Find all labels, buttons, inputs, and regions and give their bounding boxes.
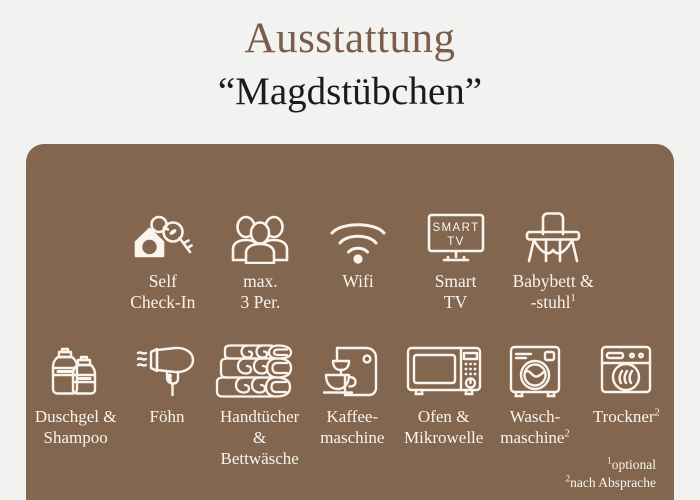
hairdryer-icon [135,340,199,398]
footnotes: 1optional 2nach Absprache [565,456,656,492]
amenity-label: Ofen & Mikrowelle [404,406,483,448]
amenities-row-1: Self Check-In [26,202,674,313]
amenity-label: Duschgel & Shampoo [35,406,117,448]
towel-stack-icon [214,340,306,398]
amenity-coffee-machine: Kaffee- maschine [308,340,397,448]
amenity-label: Smart TV [435,271,477,313]
amenity-oven-microwave: Ofen & Mikrowelle [399,340,488,448]
house-keys-icon [132,202,194,264]
amenity-tumble-dryer: Trockner2 [582,340,671,427]
page-header: Ausstattung “Magdstübchen” [0,0,700,116]
amenity-label: Babybett & -stuhl1 [513,271,594,313]
amenity-label: Wasch- maschine2 [500,406,569,448]
page-subtitle: “Magdstübchen” [0,64,700,116]
footnote-marker: 2 [564,428,569,439]
amenities-card: Self Check-In [26,144,674,500]
microwave-oven-icon [405,340,483,398]
amenity-label: max. 3 Per. [240,271,280,313]
amenity-self-checkin: Self Check-In [122,202,204,313]
amenity-wifi: Wifi [317,202,399,292]
footnote-2: 2nach Absprache [565,474,656,492]
smart-tv-icon: SMART TV [426,202,486,264]
page-title: Ausstattung [0,14,700,64]
smart-tv-screen-line2: TV [447,236,465,248]
wifi-icon [327,202,389,264]
washing-machine-icon [507,340,563,398]
amenity-washing-machine: Wasch- maschine2 [490,340,579,448]
amenity-label: Wifi [342,271,373,292]
amenity-label: Kaffee- maschine [320,406,384,448]
amenities-grid: Self Check-In [26,144,674,500]
amenity-towels-bedlinen: Handtücher & Bettwäsche [214,340,306,469]
amenities-row-2: Duschgel & Shampoo [26,340,674,469]
amenity-label: Trockner2 [593,406,660,427]
amenity-max-persons: max. 3 Per. [220,202,302,313]
amenity-smart-tv: SMART TV Smart TV [415,202,497,313]
amenity-label: Handtücher & Bettwäsche [214,406,306,469]
coffee-machine-icon [322,340,382,398]
high-chair-icon [522,202,584,264]
amenity-label: Self Check-In [130,271,195,313]
footnote-1: 1optional [565,456,656,474]
amenity-hairdryer: Föhn [122,340,211,427]
footnote-marker: 2 [655,407,660,418]
amenity-label: Föhn [150,406,185,427]
amenity-baby-bed-chair: Babybett & -stuhl1 [512,202,594,313]
three-people-icon [230,202,290,264]
tumble-dryer-icon [598,340,654,398]
shampoo-bottles-icon [47,340,105,398]
footnote-marker: 1 [570,293,575,304]
smart-tv-screen-line1: SMART [432,222,479,234]
amenity-shower-gel-shampoo: Duschgel & Shampoo [31,340,120,448]
